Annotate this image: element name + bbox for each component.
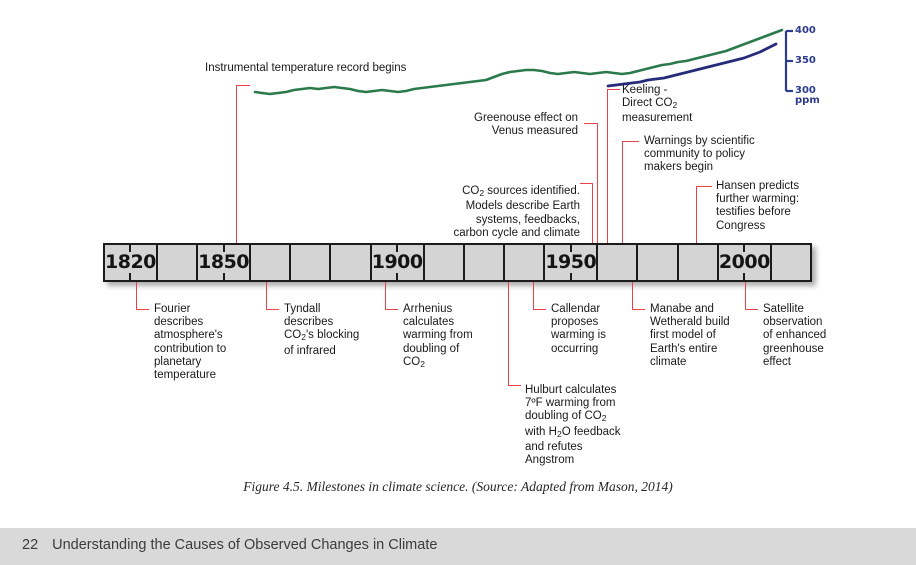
leader-keeling-v (607, 89, 608, 243)
leader-hulburt-v (508, 282, 509, 386)
ppm-unit-label: ppm (795, 96, 820, 106)
leader-satellite-h (745, 309, 758, 310)
leader-fourier-h (136, 309, 149, 310)
page-number: 22 (22, 537, 38, 553)
leader-venus-v (597, 123, 598, 243)
timeline-cell[interactable] (425, 245, 465, 280)
timeline-tick-top (223, 245, 225, 252)
timeline-cell[interactable] (291, 245, 331, 280)
ppm-tick-350: 350 (795, 56, 816, 66)
ppm-tick-400: 400 (795, 26, 816, 36)
leader-instrumental-v (236, 85, 237, 243)
timeline-cell[interactable]: 1850 (198, 245, 251, 280)
leader-keeling-h (607, 89, 620, 90)
timeline-cell[interactable] (638, 245, 678, 280)
annotation-tyndall: Tyndall describes CO2's blocking of infr… (284, 303, 389, 358)
annotation-co2-sources: CO2 sources identified. Models describe … (415, 172, 580, 240)
leader-tyndall-h (266, 309, 279, 310)
leader-callendar-v (533, 282, 534, 310)
annotation-fourier: Fourier describes atmosphere's contribut… (154, 303, 259, 382)
timeline-tick-bottom (396, 273, 398, 280)
annotation-hulburt: Hulburt calculates 7ºF warming from doub… (525, 384, 645, 467)
timeline-cell[interactable] (505, 245, 545, 280)
timeline-year-label: 1820 (105, 253, 156, 272)
annotation-arrhenius: Arrhenius calculates warming from doubli… (403, 303, 508, 371)
figure-climate-milestones: 400 350 300 ppm Instrumental temperature… (0, 0, 916, 510)
leader-satellite-v (745, 282, 746, 310)
ppm-axis (786, 31, 793, 91)
subscript-2: 2 (420, 359, 425, 369)
timeline-cell[interactable]: 1820 (105, 245, 158, 280)
annotation-co2-sources-text-a: CO (462, 185, 479, 197)
leader-warnings-v (622, 141, 623, 243)
leader-tyndall-v (266, 282, 267, 310)
annotation-satellite: Satellite observation of enhanced greenh… (763, 303, 873, 369)
timeline-year-label: 1900 (372, 253, 423, 272)
leader-venus-h (584, 123, 598, 124)
subscript-2: 2 (602, 413, 607, 423)
timeline-cell[interactable] (465, 245, 505, 280)
timeline-tick-top (396, 245, 398, 252)
timeline-cell[interactable]: 2000 (719, 245, 772, 280)
running-head: Understanding the Causes of Observed Cha… (52, 537, 437, 553)
annotation-warnings-policy: Warnings by scientific community to poli… (644, 135, 789, 175)
annotation-hansen: Hansen predicts further warming: testifi… (716, 180, 851, 233)
annotation-instrumental-record: Instrumental temperature record begins (205, 62, 435, 75)
leader-hansen-v (696, 186, 697, 243)
timeline-tick-bottom (743, 273, 745, 280)
annotation-hulburt-text-b: with H (525, 426, 557, 438)
annotation-keeling-line2: Direct CO (622, 97, 672, 109)
page-footer: 22 Understanding the Causes of Observed … (0, 528, 916, 565)
leader-co2-sources-v (592, 183, 593, 243)
timeline-year-label: 1850 (198, 253, 249, 272)
timeline-cell[interactable]: 1900 (372, 245, 425, 280)
leader-manabe-v (632, 282, 633, 310)
leader-instrumental-h (236, 85, 250, 86)
annotation-manabe: Manabe and Wetherald build first model o… (650, 303, 760, 369)
annotation-callendar: Callendar proposes warming is occurring (551, 303, 656, 356)
timeline-tick-bottom (223, 273, 225, 280)
timeline-cell[interactable]: 1950 (545, 245, 598, 280)
annotation-arrhenius-text: Arrhenius calculates warming from doubli… (403, 303, 473, 368)
leader-fourier-v (136, 282, 137, 310)
leader-manabe-h (632, 309, 645, 310)
timeline-bar[interactable]: 1820 1850 1900 1950 2000 (103, 243, 812, 282)
timeline-tick-top (570, 245, 572, 252)
annotation-keeling-line3: measurement (622, 112, 692, 124)
leader-hansen-h (696, 186, 712, 187)
timeline-cell[interactable] (158, 245, 198, 280)
leader-arrhenius-v (385, 282, 386, 310)
subscript-2: 2 (672, 100, 677, 110)
co2-curve (608, 44, 776, 86)
timeline-tick-bottom (570, 273, 572, 280)
leader-hulburt-h (508, 385, 521, 386)
timeline-tick-bottom (129, 273, 131, 280)
timeline-cell[interactable] (679, 245, 719, 280)
annotation-keeling-line1: Keeling - (622, 84, 667, 96)
timeline-cell[interactable] (598, 245, 638, 280)
timeline-cell[interactable] (251, 245, 291, 280)
timeline-tick-top (743, 245, 745, 252)
timeline-cell[interactable] (331, 245, 371, 280)
timeline-year-label: 2000 (719, 253, 770, 272)
leader-callendar-h (533, 309, 546, 310)
annotation-venus-greenhouse: Greenouse effect on Venus measured (418, 112, 578, 138)
leader-warnings-h (622, 141, 639, 142)
figure-caption: Figure 4.5. Milestones in climate scienc… (0, 479, 916, 495)
annotation-keeling: Keeling -Direct CO2measurement (622, 84, 742, 126)
leader-arrhenius-h (385, 309, 398, 310)
timeline-cell[interactable] (772, 245, 810, 280)
timeline-year-label: 1950 (545, 253, 596, 272)
timeline-tick-top (129, 245, 131, 252)
